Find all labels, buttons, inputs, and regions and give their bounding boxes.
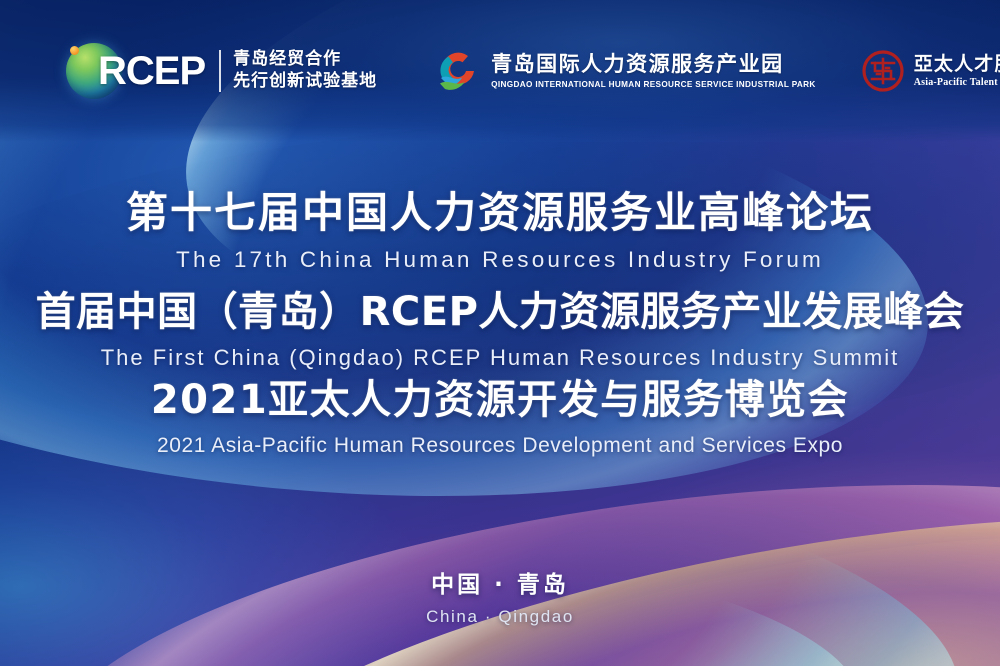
location-cn: 中国 · 青岛 (0, 572, 1000, 598)
logo-qingdao-park[interactable]: 青岛国际人力资源服务产业园 QINGDAO INTERNATIONAL HUMA… (435, 49, 816, 93)
title-block-summit: 首届中国（青岛）RCEP人力资源服务产业发展峰会 The First China… (0, 292, 1000, 369)
qingdao-park-en: QINGDAO INTERNATIONAL HUMAN RESOURCE SER… (491, 80, 816, 89)
logo-rcep[interactable]: RCEP 青岛经贸合作 先行创新试验基地 (66, 43, 377, 99)
rcep-wordmark: RCEP (98, 51, 205, 91)
title-expo-cn: 2021亚太人力资源开发与服务博览会 (0, 380, 1000, 420)
academy-cn: 亞太人才服務研究院 (914, 54, 1000, 75)
title-expo-en: 2021 Asia-Pacific Human Resources Develo… (0, 435, 1000, 456)
academy-en: Asia-Pacific Talent Service Academy (914, 77, 1000, 88)
rcep-orange-dot-icon (70, 46, 79, 55)
qingdao-wave-circle-icon (435, 49, 481, 93)
qingdao-park-text: 青岛国际人力资源服务产业园 QINGDAO INTERNATIONAL HUMA… (491, 53, 816, 88)
event-banner: RCEP 青岛经贸合作 先行创新试验基地 青岛国际人力资源服务产业园 QINGD… (0, 0, 1000, 666)
title-summit-en: The First China (Qingdao) RCEP Human Res… (0, 347, 1000, 369)
logo-asia-pacific-academy[interactable]: 亞太人才服務研究院 Asia-Pacific Talent Service Ac… (862, 50, 1000, 92)
rcep-cn-line-1: 青岛经贸合作 (233, 49, 377, 71)
title-block-expo: 2021亚太人力资源开发与服务博览会 2021 Asia-Pacific Hum… (0, 380, 1000, 456)
light-streak-pink-ribbon (23, 423, 1000, 666)
location-footer: 中国 · 青岛 China · Qingdao (0, 572, 1000, 627)
qingdao-park-cn: 青岛国际人力资源服务产业园 (491, 53, 816, 76)
title-summit-cn: 首届中国（青岛）RCEP人力资源服务产业发展峰会 (0, 292, 1000, 332)
rcep-chinese-text: 青岛经贸合作 先行创新试验基地 (233, 49, 377, 93)
rcep-cn-line-2: 先行创新试验基地 (233, 71, 377, 93)
title-block-forum: 第十七届中国人力资源服务业高峰论坛 The 17th China Human R… (0, 192, 1000, 272)
title-forum-en: The 17th China Human Resources Industry … (0, 249, 1000, 272)
rcep-divider (219, 50, 221, 92)
light-streak-gold-ribbon (171, 444, 1000, 666)
location-en: China · Qingdao (0, 607, 1000, 627)
academy-seal-icon (862, 50, 904, 92)
logo-header: RCEP 青岛经贸合作 先行创新试验基地 青岛国际人力资源服务产业园 QINGD… (0, 0, 1000, 142)
academy-text: 亞太人才服務研究院 Asia-Pacific Talent Service Ac… (914, 54, 1000, 88)
title-forum-cn: 第十七届中国人力资源服务业高峰论坛 (0, 192, 1000, 234)
